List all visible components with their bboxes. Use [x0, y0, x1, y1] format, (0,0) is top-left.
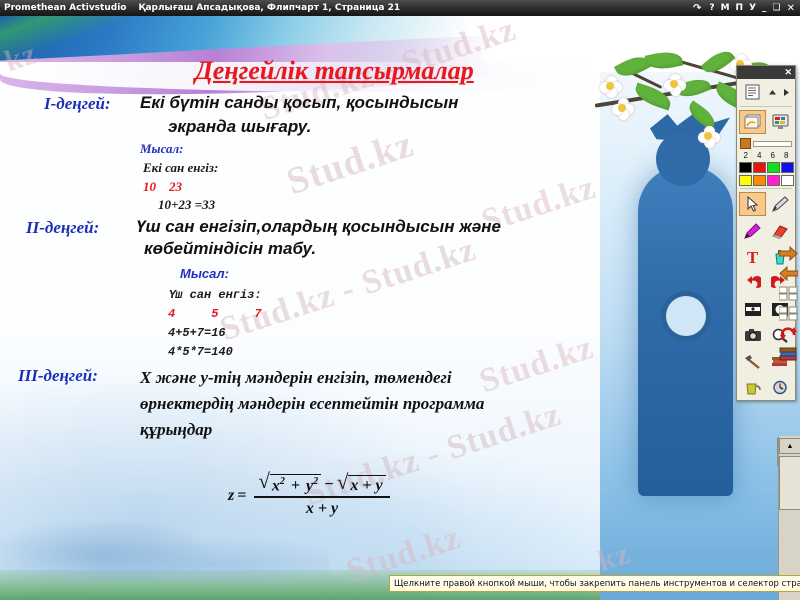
level-1-example-input: 10 23	[143, 179, 182, 195]
formula-x: x	[272, 477, 280, 494]
toolbar-header[interactable]: ✕	[737, 66, 795, 79]
color-swatch[interactable]	[767, 162, 780, 173]
blind-reveal-icon[interactable]	[740, 298, 765, 320]
toolbar-row-paint-clock	[737, 374, 795, 400]
menu-p-button[interactable]: П	[733, 3, 747, 13]
resource-books-icon[interactable]	[778, 344, 799, 363]
formula-sqrt-2: √ x + y	[337, 475, 386, 495]
pen-size-track[interactable]	[753, 141, 792, 147]
color-swatch[interactable]	[739, 175, 752, 186]
level-1-example-prompt: Екі сан енгіз:	[143, 160, 218, 176]
flipchart-pages-icon[interactable]	[739, 110, 766, 134]
paint-can-icon[interactable]	[740, 376, 765, 398]
redo-arrow-icon[interactable]: ↷	[688, 3, 706, 14]
color-swatch[interactable]	[781, 162, 794, 173]
highlighter-icon[interactable]	[740, 220, 765, 242]
document-title: Қарлығаш Апсадықова, Флипчарт 1, Страниц…	[126, 3, 400, 13]
color-swatch[interactable]	[753, 162, 766, 173]
toolbar-divider-1	[740, 106, 792, 107]
dock-hint-tooltip: Щелкните правой кнопкой мыши, чтобы закр…	[389, 575, 800, 592]
slide-content: Деңгейлік тапсырмалар I-деңгей: Екі бүті…	[0, 16, 800, 600]
math-formula: z = √ x2 + y2 − √ x + y	[228, 474, 390, 518]
level-2-line-2: көбейтіндісін табу.	[144, 238, 316, 260]
level-2-example-result-2: 4*5*7=140	[168, 345, 233, 359]
next-page-arrow-icon[interactable]	[778, 244, 799, 263]
flipchart-canvas[interactable]: Stud.kz - Stud.kzStud.kzStud.kzStud.kz -…	[0, 16, 800, 600]
formula-minus: −	[324, 476, 334, 494]
collapse-up-icon[interactable]	[767, 81, 779, 103]
page-thumbnails-icon[interactable]	[778, 284, 799, 303]
page-grid-icon[interactable]	[778, 304, 799, 323]
pen-size-slider[interactable]	[737, 136, 795, 151]
formula-numerator: √ x2 + y2 − √ x + y	[254, 474, 389, 496]
level-2-line-1: Үш сан енгізіп,олардың қосындысын және	[136, 216, 501, 238]
pen-size-tick[interactable]: 2	[744, 151, 748, 160]
color-swatch[interactable]	[753, 175, 766, 186]
pen-size-ticks: 2468	[737, 151, 795, 161]
text-tool-icon[interactable]: T	[740, 246, 765, 268]
undo-icon[interactable]	[740, 272, 765, 294]
formula-x-exp: 2	[280, 476, 285, 487]
level-2-example-result-1: 4+5+7=16	[168, 326, 226, 340]
scrollbar-thumb[interactable]	[779, 456, 800, 510]
clock-icon[interactable]	[767, 376, 792, 398]
toolbar-close-icon[interactable]: ✕	[784, 68, 792, 77]
formula-fraction: √ x2 + y2 − √ x + y x + y	[254, 474, 389, 518]
restore-button[interactable]: ❏	[770, 3, 784, 13]
color-swatch[interactable]	[781, 175, 794, 186]
level-2-example-prompt: Үш сан енгіз:	[168, 288, 262, 302]
pen-size-tick[interactable]: 6	[771, 151, 775, 160]
level-3-line-2: өрнектердің мәндерін есептейтін программ…	[140, 392, 484, 416]
color-swatch[interactable]	[739, 162, 752, 173]
color-palette-row-1	[737, 161, 795, 174]
toolbar-divider-2	[740, 188, 792, 189]
radical-symbol-icon: √	[258, 474, 270, 489]
formula-y-exp: 2	[313, 476, 318, 487]
formula-equals: =	[237, 487, 246, 505]
pen-size-swatch	[740, 138, 751, 149]
minimize-button[interactable]: _	[759, 3, 770, 13]
app-name: Promethean Activstudio	[0, 3, 126, 13]
level-2-label: II-деңгей:	[26, 218, 99, 238]
formula-plus: +	[291, 477, 300, 494]
expand-right-icon[interactable]	[781, 81, 793, 103]
close-button[interactable]: ✕	[784, 3, 800, 14]
level-2-example-caption: Мысал:	[180, 266, 229, 281]
level-1-example-caption: Мысал:	[140, 141, 184, 157]
page-list-icon[interactable]	[740, 81, 765, 103]
pen-size-tick[interactable]: 8	[784, 151, 788, 160]
formula-lhs: z	[228, 487, 234, 505]
toolbar-row-mode	[737, 108, 795, 136]
slide-title: Деңгейлік тапсырмалар	[195, 56, 474, 86]
formula-denominator: x + y	[302, 498, 342, 518]
camera-icon[interactable]	[740, 324, 765, 346]
formula-sqrt-1: √ x2 + y2	[258, 474, 321, 495]
previous-page-arrow-icon[interactable]	[778, 264, 799, 283]
formula-sqrt-1-radicand: x2 + y2	[270, 474, 321, 495]
page-tools-column[interactable]	[777, 244, 800, 363]
level-1-label: I-деңгей:	[44, 94, 111, 114]
level-1-line-2: экранда шығару.	[168, 116, 311, 138]
formula-sqrt-2-radicand: x + y	[348, 475, 385, 495]
radical-symbol-icon-2: √	[337, 475, 349, 490]
level-3-line-1: Х және у-тің мәндерін енгізіп, төмендегі	[140, 366, 452, 390]
level-1-line-1: Екі бүтін санды қосып, қосындысын	[140, 92, 458, 114]
select-pointer-icon[interactable]	[739, 192, 766, 216]
hammer-tools-icon[interactable]	[740, 350, 765, 372]
help-button[interactable]: ?	[706, 3, 717, 13]
level-3-label: III-деңгей:	[18, 366, 98, 386]
reset-page-icon[interactable]	[778, 324, 799, 343]
level-2-example-input: 4 5 7	[168, 307, 262, 321]
level-1-example-result: 10+23 =33	[158, 197, 215, 213]
toolbar-row-select-pen	[737, 190, 795, 218]
pen-size-tick[interactable]: 4	[757, 151, 761, 160]
level-3-line-3: құрыңдар	[140, 418, 212, 442]
window-title-bar: Promethean Activstudio Қарлығаш Апсадықо…	[0, 0, 800, 16]
pen-icon[interactable]	[768, 193, 793, 215]
toolbar-row-highlighter-eraser	[737, 218, 795, 244]
color-swatch[interactable]	[767, 175, 780, 186]
toolbar-row-pagelist	[737, 79, 795, 105]
desktop-tools-icon[interactable]	[768, 111, 793, 133]
menu-m-button[interactable]: М	[718, 3, 733, 13]
dock-hint-text: Щелкните правой кнопкой мыши, чтобы закр…	[394, 579, 800, 589]
color-palette-row-2	[737, 174, 795, 187]
menu-u-button[interactable]: У	[746, 3, 759, 13]
scroll-up-arrow-icon[interactable]: ▲	[779, 438, 800, 454]
eraser-icon[interactable]	[767, 220, 792, 242]
